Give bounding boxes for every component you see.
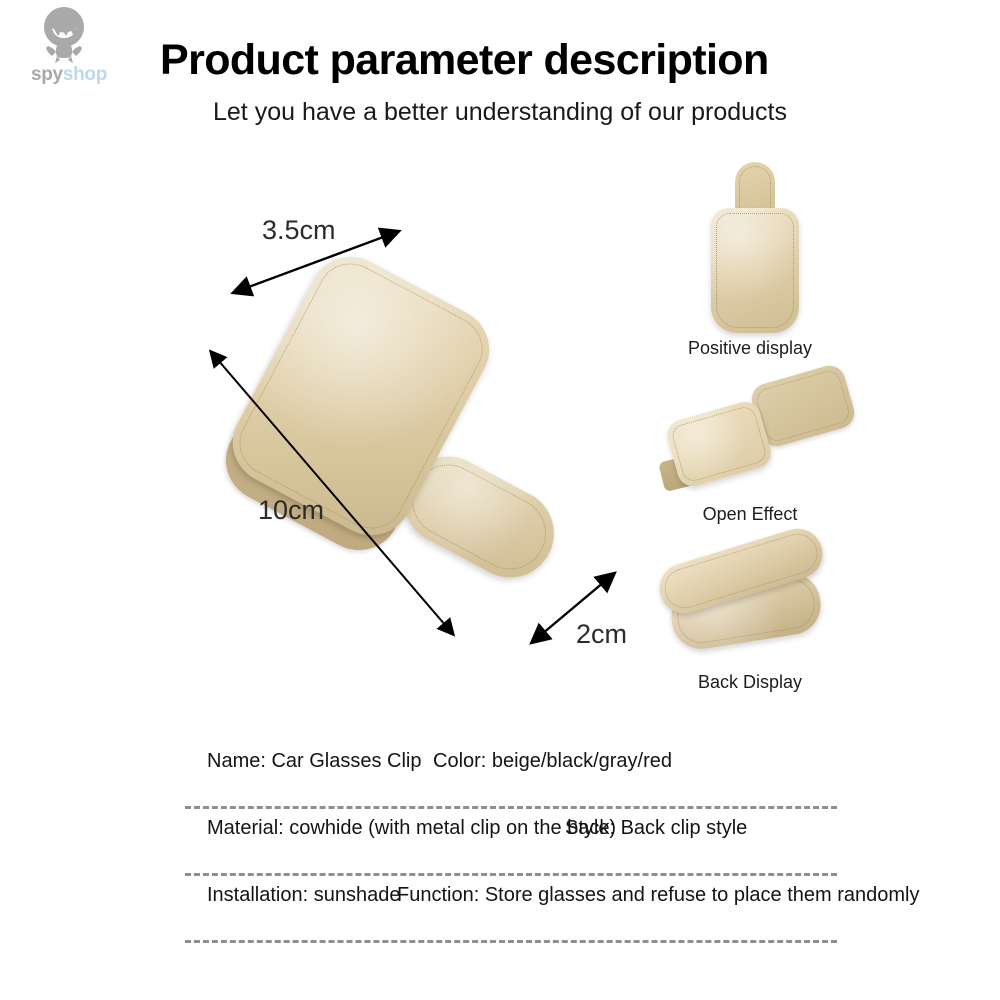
page-title: Product parameter description <box>160 36 860 85</box>
dimension-label-width: 3.5cm <box>262 215 336 246</box>
dimension-label-depth: 2cm <box>576 619 627 650</box>
variant-label-positive: Positive display <box>635 338 865 359</box>
brand-wordmark: spyshop <box>14 64 124 86</box>
dimension-arrow-length <box>206 348 456 638</box>
variant-image-positive <box>635 160 865 338</box>
variant-label-open: Open Effect <box>635 504 865 525</box>
spec-material: Material: cowhide (with metal clip on th… <box>185 817 565 840</box>
page-subtitle: Let you have a better understanding of o… <box>160 98 840 127</box>
variant-image-open <box>635 362 865 504</box>
spec-installation: Installation: sunshade <box>185 884 397 907</box>
variant-back-display: Back Display <box>635 532 865 693</box>
variant-label-back: Back Display <box>635 672 865 693</box>
variant-image-back <box>635 532 865 672</box>
spec-color: Color: beige/black/gray/red <box>433 750 672 773</box>
product-body-front <box>711 208 799 333</box>
spec-function: Function: Store glasses and refuse to pl… <box>397 884 920 907</box>
spec-style: Style: Back clip style <box>565 817 747 840</box>
brand-name-shop: shop <box>63 64 107 85</box>
spec-table: Name: Car Glasses ClipColor: beige/black… <box>185 742 837 943</box>
brand-logo: spyshop <box>14 6 124 98</box>
spec-divider <box>185 940 837 943</box>
product-panel-bottom <box>663 398 774 490</box>
variant-open-effect: Open Effect <box>635 362 865 525</box>
ninja-character-icon <box>36 6 92 64</box>
spec-row: Material: cowhide (with metal clip on th… <box>185 809 837 876</box>
dimension-label-length: 10cm <box>258 495 324 526</box>
variant-positive-display: Positive display <box>635 160 865 359</box>
spec-row: Name: Car Glasses ClipColor: beige/black… <box>185 742 837 809</box>
brand-name-spy: spy <box>31 64 63 85</box>
spec-row: Installation: sunshadeFunction: Store gl… <box>185 876 837 943</box>
spec-name: Name: Car Glasses Clip <box>185 750 433 773</box>
